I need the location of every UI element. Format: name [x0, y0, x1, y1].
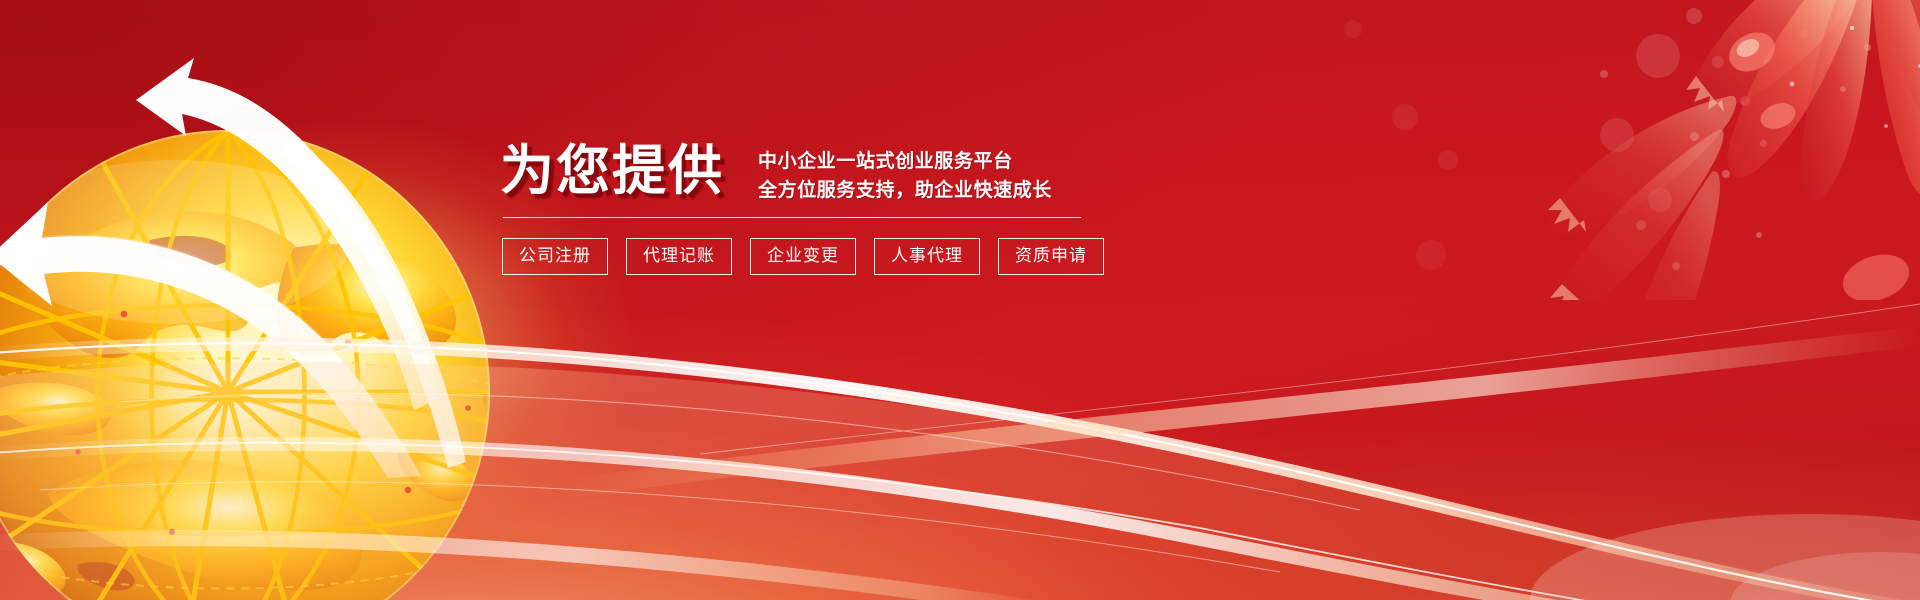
subtitle-line-2: 全方位服务支持，助企业快速成长 — [758, 176, 1052, 205]
service-tag-hr-agency[interactable]: 人事代理 — [874, 238, 980, 276]
service-tag-row: 公司注册 代理记账 企业变更 人事代理 资质申请 — [502, 238, 1120, 276]
curved-arrows-decoration — [0, 58, 510, 478]
service-tag-company-change[interactable]: 企业变更 — [750, 238, 856, 276]
service-tag-bookkeeping[interactable]: 代理记账 — [626, 238, 732, 276]
flower-petals-decoration — [1400, 0, 1920, 300]
banner-content: 为您提供 中小企业一站式创业服务平台 全方位服务支持，助企业快速成长 公司注册 … — [500, 140, 1120, 275]
service-tag-qualification-application[interactable]: 资质申请 — [998, 238, 1104, 276]
divider — [503, 217, 1081, 218]
page-title: 为您提供 — [500, 140, 724, 198]
subtitle-line-1: 中小企业一站式创业服务平台 — [758, 147, 1052, 176]
service-tag-company-registration[interactable]: 公司注册 — [502, 238, 608, 276]
promo-banner: 为您提供 中小企业一站式创业服务平台 全方位服务支持，助企业快速成长 公司注册 … — [0, 0, 1920, 600]
subtitle-group: 中小企业一站式创业服务平台 全方位服务支持，助企业快速成长 — [758, 140, 1052, 205]
headline-row: 为您提供 中小企业一站式创业服务平台 全方位服务支持，助企业快速成长 — [500, 140, 1120, 205]
